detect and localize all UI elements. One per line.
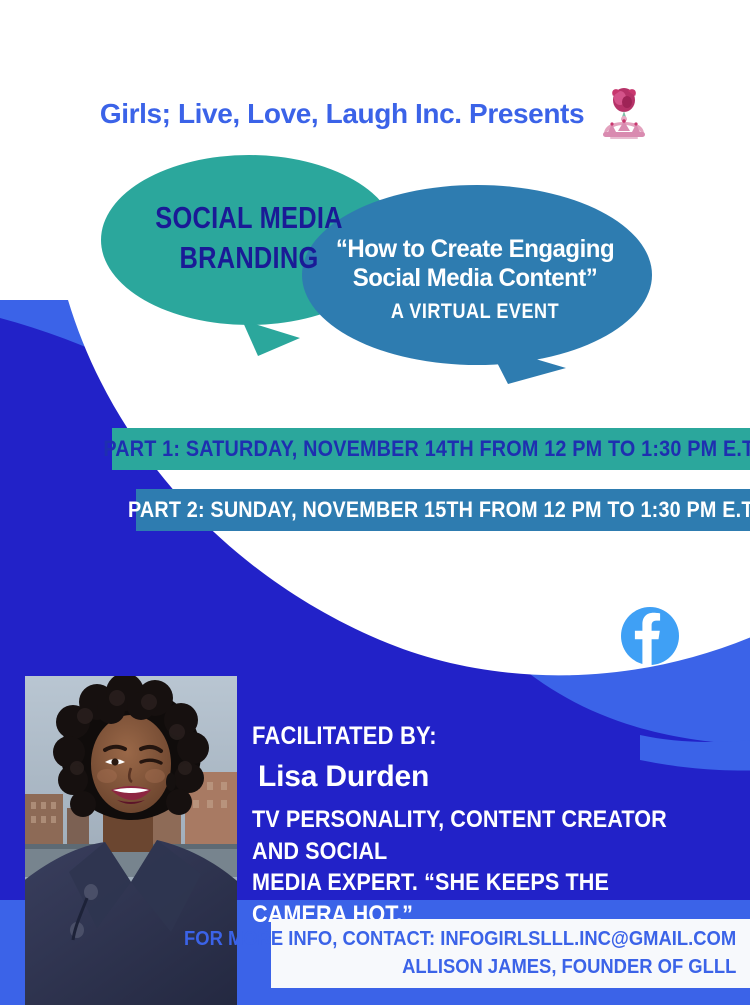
twitter-bird-glyph [552, 632, 608, 678]
rose-tiara-logo-svg [598, 86, 650, 142]
teal-bubble-line1: SOCIAL MEDIA [130, 198, 368, 238]
speech-bubbles: SOCIAL MEDIA BRANDING “How to Create Eng… [0, 140, 750, 430]
contact-email-line: FOR MORE INFO, CONTACT: INFOGIRLSLLL.INC… [184, 926, 736, 954]
flyer-poster: Girls; Live, Love, Laugh Inc. Presents [0, 0, 750, 1005]
schedule-bar-part-1: PART 1: SATURDAY, NOVEMBER 14TH FROM 12 … [112, 428, 750, 470]
facebook-f-glyph [620, 606, 680, 666]
facilitator-photo [25, 676, 237, 1005]
instagram-icon[interactable] [684, 578, 742, 636]
facilitator-description: TV PERSONALITY, CONTENT CREATOR AND SOCI… [252, 804, 675, 931]
facilitated-by-label: FACILITATED BY: [252, 722, 666, 751]
event-title-line2: Social Media Content” [307, 264, 643, 293]
page-title: Girls; Live, Love, Laugh Inc. Presents [100, 98, 584, 130]
portrait-image [25, 676, 237, 1005]
facilitator-block: FACILITATED BY: Lisa Durden TV PERSONALI… [252, 722, 722, 931]
facilitator-description-line1: TV PERSONALITY, CONTENT CREATOR AND SOCI… [252, 804, 675, 867]
event-title-line1: “How to Create Engaging [307, 235, 643, 264]
contact-box: FOR MORE INFO, CONTACT: INFOGIRLSLLL.INC… [271, 919, 750, 988]
rose-tiara-logo-icon [598, 86, 650, 142]
blue-bubble-text: “How to Create Engaging Social Media Con… [300, 235, 650, 328]
facebook-icon[interactable] [620, 606, 680, 666]
schedule-bar-part-2: PART 2: SUNDAY, NOVEMBER 15TH FROM 12 PM… [136, 489, 750, 531]
schedule-bar-part-2-label: PART 2: SUNDAY, NOVEMBER 15TH FROM 12 PM… [128, 497, 750, 523]
header: Girls; Live, Love, Laugh Inc. Presents [0, 86, 750, 142]
instagram-camera-glyph [684, 578, 742, 636]
facilitator-name: Lisa Durden [258, 760, 722, 794]
twitter-icon[interactable] [552, 632, 608, 678]
contact-founder-line: ALLISON JAMES, FOUNDER OF GLLL [402, 954, 736, 982]
event-subtitle: A VIRTUAL EVENT [325, 296, 626, 328]
schedule-bar-part-1-label: PART 1: SATURDAY, NOVEMBER 14TH FROM 12 … [104, 436, 750, 462]
